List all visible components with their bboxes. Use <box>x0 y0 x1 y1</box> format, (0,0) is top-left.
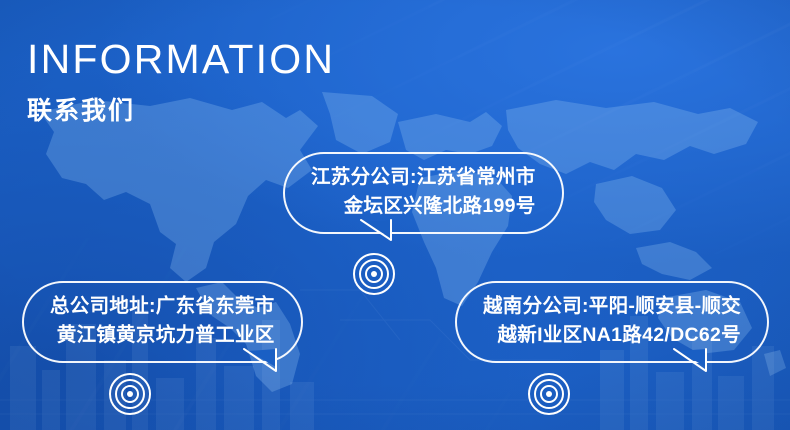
heading-subtitle: 联系我们 <box>27 96 335 126</box>
address-bubble-body: 江苏分公司:江苏省常州市 金坛区兴隆北路199号 <box>283 152 564 234</box>
page-title: INFORMATION 联系我们 <box>27 36 335 126</box>
contact-information-banner: INFORMATION 联系我们 江苏分公司:江苏省常州市 金坛区兴隆北路199… <box>0 0 790 430</box>
address-bubble-jiangsu[interactable]: 江苏分公司:江苏省常州市 金坛区兴隆北路199号 <box>283 152 564 234</box>
address-line-1: 越南分公司:平阳-顺安县-顺交 <box>483 292 741 321</box>
address-bubble-vietnam[interactable]: 越南分公司:平阳-顺安县-顺交 越新I业区NA1路42/DC62号 <box>455 281 769 363</box>
location-marker-jiangsu[interactable] <box>352 252 396 296</box>
address-line-2: 金坛区兴隆北路199号 <box>311 192 536 221</box>
address-line-2: 黄江镇黄京坑力普工业区 <box>50 321 275 350</box>
address-line-2: 越新I业区NA1路42/DC62号 <box>483 321 741 350</box>
address-line-1: 总公司地址:广东省东莞市 <box>50 292 275 321</box>
location-marker-vietnam[interactable] <box>527 372 571 416</box>
address-bubble-headquarters[interactable]: 总公司地址:广东省东莞市 黄江镇黄京坑力普工业区 <box>22 281 303 363</box>
address-bubble-body: 总公司地址:广东省东莞市 黄江镇黄京坑力普工业区 <box>22 281 303 363</box>
address-line-1: 江苏分公司:江苏省常州市 <box>311 163 536 192</box>
address-bubble-body: 越南分公司:平阳-顺安县-顺交 越新I业区NA1路42/DC62号 <box>455 281 769 363</box>
heading-title: INFORMATION <box>27 36 335 82</box>
location-marker-headquarters[interactable] <box>108 372 152 416</box>
